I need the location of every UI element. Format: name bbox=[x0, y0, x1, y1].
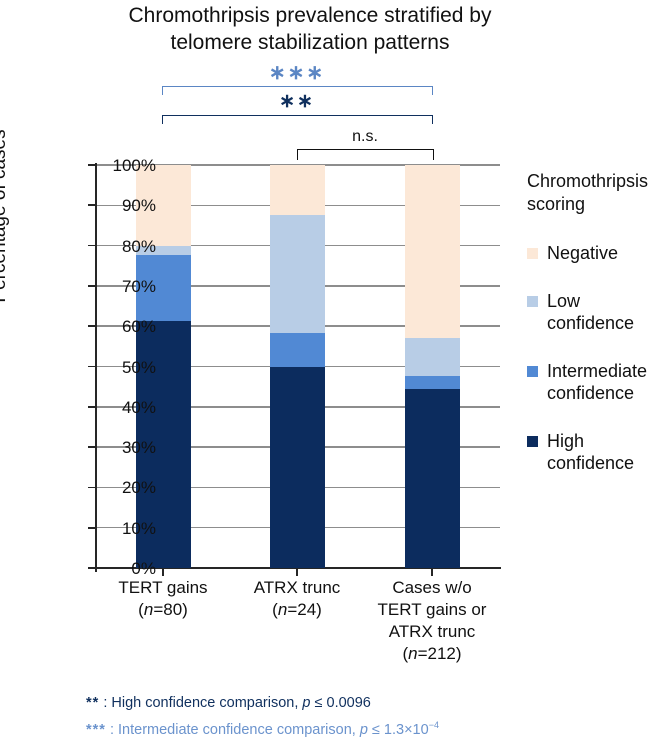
legend-title: Chromothripsisscoring bbox=[527, 170, 663, 216]
y-axis-tick-label: 10% bbox=[76, 519, 156, 539]
legend-item[interactable]: Lowconfidence bbox=[527, 290, 663, 334]
bar-segment-high[interactable] bbox=[405, 389, 460, 568]
legend-item-label: Highconfidence bbox=[547, 430, 663, 474]
legend-item[interactable]: Highconfidence bbox=[527, 430, 663, 474]
footnote-high-confidence: ** : High confidence comparison, p ≤ 0.0… bbox=[86, 692, 646, 714]
bar-stack[interactable] bbox=[270, 165, 325, 568]
y-axis-tick-label: 60% bbox=[76, 317, 156, 337]
legend-item-label: Negative bbox=[547, 242, 663, 264]
legend-item-label: Intermediateconfidence bbox=[547, 360, 663, 404]
significance-bracket-ns bbox=[297, 149, 434, 160]
page-title: Chromothripsis prevalence stratified byt… bbox=[60, 2, 560, 56]
legend-swatch-icon bbox=[527, 296, 538, 307]
y-axis-tick-label: 0% bbox=[76, 559, 156, 579]
y-axis-tick-label: 40% bbox=[76, 398, 156, 418]
x-axis-tick bbox=[431, 568, 433, 576]
footnote-intermediate-confidence: *** : Intermediate confidence comparison… bbox=[86, 714, 646, 741]
legend-swatch-icon bbox=[527, 366, 538, 377]
x-axis-tick-label: Cases w/oTERT gains orATRX trunc(n=212) bbox=[352, 577, 512, 665]
x-axis-tick bbox=[162, 568, 164, 576]
legend: Chromothripsisscoring NegativeLowconfide… bbox=[527, 170, 663, 474]
footnotes: ** : High confidence comparison, p ≤ 0.0… bbox=[86, 692, 646, 741]
x-axis-tick bbox=[296, 568, 298, 576]
y-axis-tick-label: 80% bbox=[76, 237, 156, 257]
bar-stack[interactable] bbox=[405, 165, 460, 568]
y-axis-tick-label: 30% bbox=[76, 438, 156, 458]
legend-items: NegativeLowconfidenceIntermediateconfide… bbox=[527, 242, 663, 474]
significance-stars-intermediate: ∗∗∗ bbox=[232, 60, 362, 85]
y-axis-title: Percentage of cases bbox=[0, 86, 11, 346]
legend-item[interactable]: Intermediateconfidence bbox=[527, 360, 663, 404]
bar-segment-high[interactable] bbox=[270, 367, 325, 569]
y-axis-tick-label: 70% bbox=[76, 277, 156, 297]
y-axis-tick-label: 100% bbox=[76, 156, 156, 176]
legend-item-label: Lowconfidence bbox=[547, 290, 663, 334]
significance-stars-high: ∗∗ bbox=[232, 90, 362, 113]
significance-bracket-high bbox=[162, 115, 433, 124]
legend-item[interactable]: Negative bbox=[527, 242, 663, 264]
y-axis-tick-label: 50% bbox=[76, 358, 156, 378]
y-axis-tick-label: 20% bbox=[76, 478, 156, 498]
significance-label-ns: n.s. bbox=[305, 128, 425, 146]
y-axis-tick-label: 90% bbox=[76, 196, 156, 216]
legend-swatch-icon bbox=[527, 248, 538, 259]
legend-swatch-icon bbox=[527, 436, 538, 447]
